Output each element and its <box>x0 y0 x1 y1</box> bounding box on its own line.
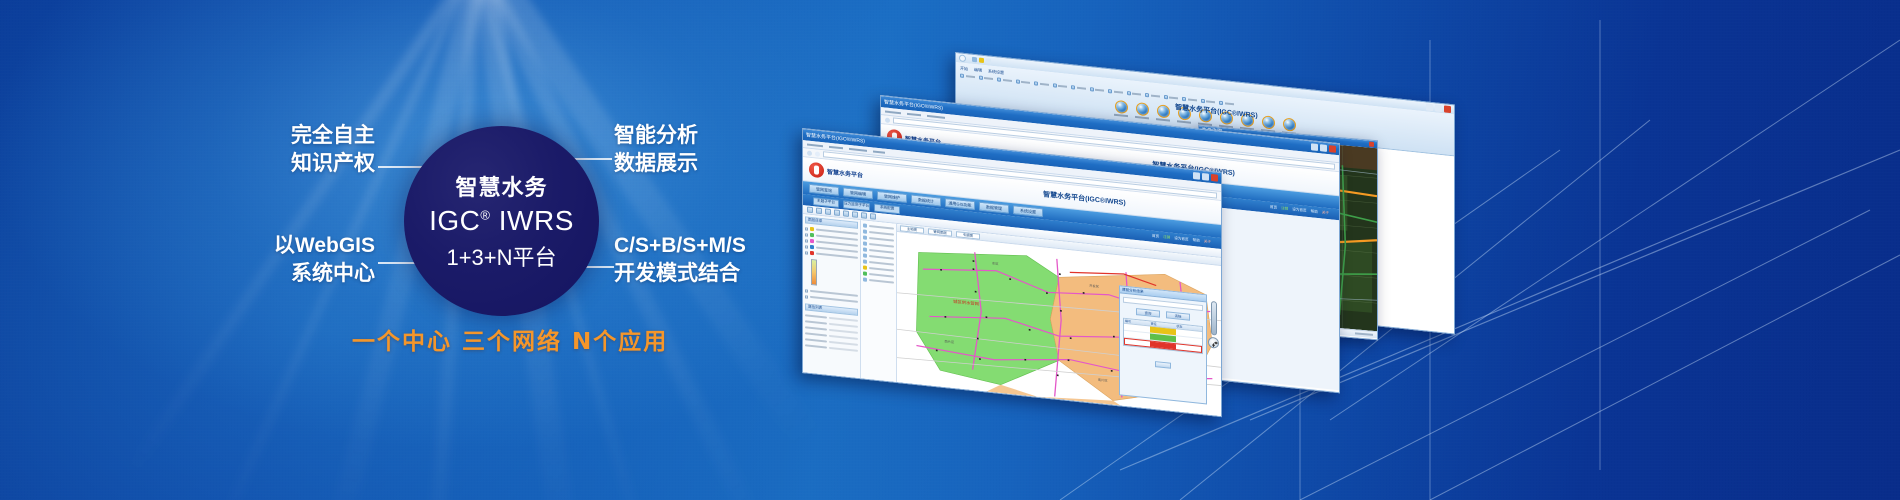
cmd-icon <box>1219 101 1223 105</box>
tool-about[interactable]: 关于 <box>1322 210 1329 216</box>
checkbox[interactable] <box>805 239 808 242</box>
tool-icon <box>863 223 867 227</box>
map-navigation-control[interactable] <box>1208 301 1219 349</box>
tool-icon <box>863 271 867 275</box>
gis-tools-panel[interactable] <box>861 220 897 384</box>
ribbon-big-icon-2[interactable] <box>1156 104 1170 121</box>
minimize-icon[interactable] <box>1193 172 1200 180</box>
cmd-icon <box>1090 87 1094 91</box>
checkbox[interactable] <box>805 233 808 236</box>
menu-item[interactable] <box>885 110 901 114</box>
ribbon-cmd[interactable] <box>1108 89 1123 95</box>
cmd-icon <box>1164 95 1168 99</box>
measure-icon[interactable] <box>843 210 849 217</box>
hero-banner: 完全自主 知识产权 智能分析 数据展示 以WebGIS 系统中心 C/S+B/S… <box>0 0 1900 500</box>
dialog-locate-button[interactable] <box>1155 361 1171 369</box>
dialog-query-button[interactable]: 查询 <box>1136 308 1160 318</box>
cmd-icon <box>1201 99 1205 103</box>
brand-name-front: 智慧水务平台 <box>827 167 863 180</box>
ribbon-cmd[interactable] <box>997 77 1012 83</box>
pan-icon[interactable] <box>807 207 813 214</box>
cmd-icon <box>1127 91 1131 95</box>
minimize-icon[interactable] <box>1426 103 1433 111</box>
tool-help[interactable]: 帮助 <box>1311 209 1318 215</box>
tool-sethome[interactable]: 设为首页 <box>1174 236 1188 243</box>
cmd-icon <box>979 75 983 79</box>
save-icon[interactable] <box>972 57 977 63</box>
cmd-icon <box>1053 83 1057 87</box>
zoom-out-icon[interactable] <box>825 208 831 215</box>
ribbon-cmd[interactable] <box>1034 81 1049 87</box>
nav-1[interactable]: 管网编辑 <box>843 187 873 199</box>
tagline: 一个中心 三个网络 N个应用 <box>352 322 668 356</box>
back-icon[interactable] <box>885 117 890 123</box>
globe-icon <box>1115 100 1128 114</box>
tool-help[interactable]: 帮助 <box>1193 238 1200 244</box>
back-icon[interactable] <box>807 150 812 156</box>
hub-platform: 1+3+N平台 <box>446 240 556 272</box>
cmd-label <box>966 75 975 78</box>
dialog-clear-button[interactable]: 清除 <box>1166 311 1190 321</box>
menu-item[interactable] <box>807 143 823 147</box>
tool-home[interactable]: 首页 <box>1152 234 1159 240</box>
cmd-label <box>1040 83 1049 86</box>
ribbon-tab-0[interactable]: 开始 <box>960 66 968 73</box>
ribbon-cmd[interactable] <box>1090 87 1105 93</box>
icon-caption <box>1135 116 1149 119</box>
checkbox[interactable] <box>805 251 808 254</box>
cmd-label <box>1077 87 1086 90</box>
tool-icon <box>863 247 867 251</box>
menu-item[interactable] <box>849 147 867 151</box>
undo-icon[interactable] <box>979 58 984 64</box>
feature-label-bottom-right: C/S+B/S+M/S 开发模式结合 <box>614 232 746 287</box>
tool-logout[interactable]: 注销 <box>1281 206 1288 212</box>
feature-label-top-left: 完全自主 知识产权 <box>190 122 375 177</box>
icon-caption <box>1114 114 1128 117</box>
ribbon-cmd[interactable] <box>979 75 994 81</box>
checkbox[interactable] <box>805 289 808 292</box>
cmd-icon <box>1034 81 1038 85</box>
checkbox[interactable] <box>805 245 808 248</box>
checkbox[interactable] <box>805 227 808 230</box>
cmd-icon <box>1071 85 1075 89</box>
layer-color-icon <box>810 251 814 255</box>
tool-about[interactable]: 关于 <box>1204 239 1211 245</box>
tool-icon <box>863 265 867 269</box>
ribbon-cmd[interactable] <box>1071 85 1086 91</box>
cmd-label <box>1095 89 1104 92</box>
layer-color-icon <box>810 239 814 243</box>
zoom-in-icon[interactable] <box>816 207 822 214</box>
tool-icon <box>863 241 867 245</box>
cmd-label <box>1021 81 1030 84</box>
menu-item[interactable] <box>927 114 945 118</box>
cmd-label <box>1188 98 1197 101</box>
maximize-icon[interactable] <box>1202 173 1209 181</box>
ribbon-cmd[interactable] <box>1182 97 1197 103</box>
feature-bottom-right-line1: C/S+B/S+M/S <box>614 232 746 260</box>
globe-icon <box>1283 117 1296 131</box>
feature-top-left-line2: 知识产权 <box>190 150 375 178</box>
globe-icon <box>1262 115 1275 129</box>
svg-text:东区: 东区 <box>992 260 998 266</box>
cmd-icon <box>960 74 964 78</box>
hub-name: 智慧水务 <box>455 170 547 202</box>
cmd-label <box>1132 93 1141 96</box>
tool-icon <box>863 253 867 257</box>
close-icon[interactable] <box>1444 105 1451 113</box>
ribbon-cmd[interactable] <box>960 74 975 80</box>
feature-top-right-line1: 智能分析 <box>614 122 698 150</box>
cmd-label <box>1058 85 1067 88</box>
forward-icon[interactable] <box>815 151 820 157</box>
close-icon[interactable] <box>1211 174 1218 182</box>
ribbon-cmd[interactable] <box>1201 99 1216 105</box>
tool-logout[interactable]: 注销 <box>1163 235 1170 241</box>
hub-product-line: IGC® IWRS <box>429 206 574 237</box>
ribbon-tab-1[interactable]: 编辑 <box>974 67 982 74</box>
result-table[interactable]: 编号 管径 状态 <box>1123 318 1203 354</box>
layers-icon[interactable] <box>870 213 876 220</box>
menu-item[interactable] <box>829 145 843 148</box>
pan-compass-icon[interactable] <box>1208 337 1219 349</box>
hub-product: IGC <box>429 205 480 236</box>
icon-caption <box>1156 118 1170 121</box>
cmd-label <box>984 77 993 80</box>
ribbon-cmd[interactable] <box>1053 83 1068 89</box>
nav-4[interactable]: 通用GIS功能 <box>945 198 975 210</box>
cmd-label <box>1169 96 1178 99</box>
feature-bottom-left-line1: 以WebGIS <box>175 232 375 260</box>
hub-product2: IWRS <box>499 205 574 236</box>
nav-2[interactable]: 管网维护 <box>877 191 907 203</box>
analysis-result-dialog[interactable]: 爆管分析结果 查询 清除 编号 管径 状态 <box>1119 285 1207 404</box>
cmd-icon <box>1108 89 1112 93</box>
nav-6[interactable]: 系统设置 <box>1013 205 1043 217</box>
nav-3[interactable]: 数据统计 <box>911 194 941 206</box>
feature-label-top-right: 智能分析 数据展示 <box>614 122 698 177</box>
ribbon-cmd[interactable] <box>1016 79 1031 85</box>
redo-icon[interactable] <box>986 58 991 64</box>
cmd-icon <box>1182 97 1186 101</box>
cmd-label <box>1003 79 1012 82</box>
svg-text:西片区: 西片区 <box>945 338 955 344</box>
feature-bottom-left-line2: 系统中心 <box>175 260 375 288</box>
tool-icon <box>863 259 867 263</box>
menu-item[interactable] <box>907 112 921 115</box>
select-icon[interactable] <box>834 209 840 216</box>
cmd-label <box>1225 102 1234 105</box>
feature-top-right-line2: 数据展示 <box>614 150 698 178</box>
nav-5[interactable]: 数据管理 <box>979 202 1009 214</box>
layer-color-icon <box>810 245 814 249</box>
maximize-icon[interactable] <box>1435 104 1442 112</box>
ribbon-cmd[interactable] <box>1127 91 1142 97</box>
tool-home[interactable]: 首页 <box>1270 205 1277 211</box>
checkbox[interactable] <box>805 295 808 298</box>
ribbon-cmd[interactable] <box>1145 93 1160 99</box>
cmd-icon <box>997 77 1001 81</box>
concept-diagram: 完全自主 知识产权 智能分析 数据展示 以WebGIS 系统中心 C/S+B/S… <box>0 0 830 500</box>
platform-title-front: 智慧水务平台(IGC®IWRS) <box>1043 189 1126 208</box>
ribbon-tab-2[interactable]: 系统设置 <box>988 68 1004 76</box>
close-icon[interactable] <box>1329 145 1336 153</box>
close-icon[interactable] <box>1369 142 1374 147</box>
registered-mark-icon: ® <box>480 208 490 223</box>
application-windows-collage: 开始 编辑 系统设置 <box>780 0 1900 500</box>
cmd-label <box>1151 95 1160 98</box>
cmd-icon <box>1145 93 1149 97</box>
zoom-slider[interactable] <box>1211 301 1217 336</box>
menu-item[interactable] <box>873 150 885 153</box>
feature-bottom-right-line2: 开发模式结合 <box>614 260 746 288</box>
company-logo-icon <box>809 162 824 179</box>
layer-color-icon <box>810 227 814 231</box>
tool-icon <box>863 235 867 239</box>
feature-label-bottom-left: 以WebGIS 系统中心 <box>175 232 375 287</box>
maximize-icon[interactable] <box>1320 144 1327 152</box>
globe-icon <box>1136 102 1149 116</box>
nav-0[interactable]: 管网查询 <box>809 184 839 196</box>
window-front-browser[interactable]: 智慧水务平台(IGC®IWRS) 智慧水务平台 <box>802 128 1222 417</box>
tool-icon <box>863 229 867 233</box>
status-left: 就绪 <box>807 377 814 383</box>
layer-tree-panel[interactable]: 图层目录 属性列表 <box>803 214 861 380</box>
window-menu-icon[interactable] <box>959 54 966 62</box>
legend-gradient <box>811 259 817 286</box>
tool-sethome[interactable]: 设为首页 <box>1292 207 1306 214</box>
svg-text:南片区: 南片区 <box>1098 377 1108 383</box>
central-hub-ellipse: 智慧水务 IGC® IWRS 1+3+N平台 <box>404 126 599 316</box>
svg-text:开发区: 开发区 <box>1089 283 1099 289</box>
ribbon-cmd[interactable] <box>1219 101 1234 107</box>
ribbon-cmd[interactable] <box>1164 95 1179 101</box>
identify-icon[interactable] <box>852 211 858 218</box>
minimize-icon[interactable] <box>1311 143 1318 151</box>
cmd-icon <box>1016 79 1020 83</box>
cmd-label <box>1114 91 1123 94</box>
print-icon[interactable] <box>861 212 867 219</box>
ribbon-big-icon-1[interactable] <box>1135 102 1149 119</box>
globe-icon <box>1157 104 1170 118</box>
feature-top-left-line1: 完全自主 <box>190 122 375 150</box>
icon-caption <box>1177 120 1191 123</box>
ribbon-big-icon-0[interactable] <box>1114 100 1128 117</box>
cmd-label <box>1206 100 1215 103</box>
tool-icon <box>863 277 867 281</box>
layer-color-icon <box>810 233 814 237</box>
